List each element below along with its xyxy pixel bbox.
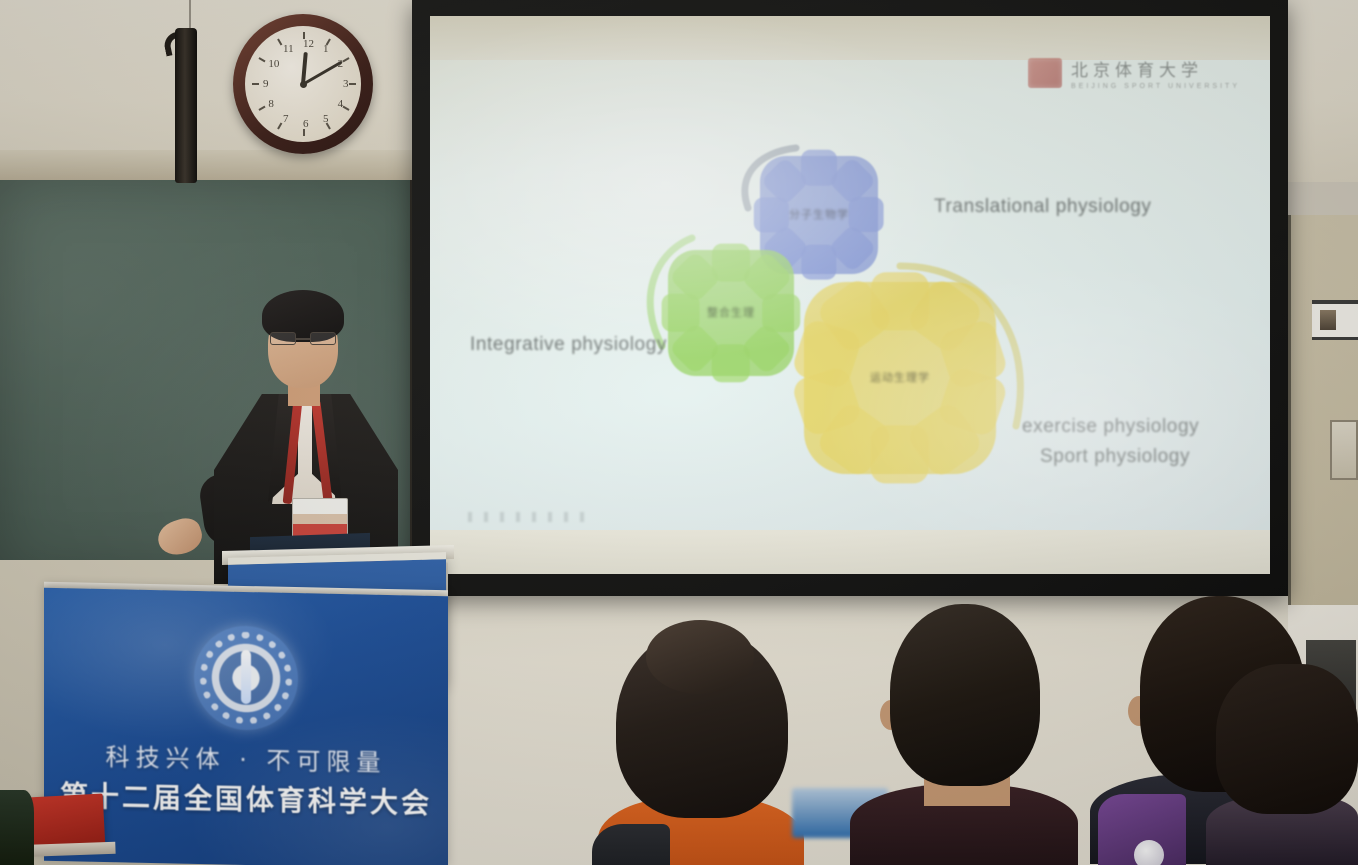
clock-tick <box>342 106 349 111</box>
clock-tick <box>277 38 282 45</box>
clock-numeral: 5 <box>323 113 329 125</box>
conference-banner: 科技兴体 · 不可限量 第十二届全国体育科学大会 <box>44 588 448 865</box>
clock-numeral: 9 <box>263 78 269 90</box>
notice-photo-icon <box>1320 310 1336 330</box>
clock-tick <box>258 106 265 111</box>
clock-tick <box>349 83 356 85</box>
audience-4-hair <box>1216 664 1358 814</box>
conference-photo: 121234567891011 北京体育大学 BEIJING SPORT UNI… <box>0 0 1358 865</box>
label-translational-physiology: Translational physiology <box>934 196 1152 218</box>
clock-numeral: 1 <box>323 43 329 55</box>
audience-1-hair-bun <box>646 620 754 694</box>
audience-member-1 <box>598 628 804 865</box>
label-integrative-physiology: Integrative physiology <box>470 334 667 356</box>
slide-footer-marks <box>468 512 588 522</box>
emblem-ring <box>200 631 292 725</box>
clock-numeral: 8 <box>268 98 274 110</box>
gear-yellow: 运动生理学 <box>804 282 996 474</box>
wall-shadow-band <box>0 150 430 182</box>
audience-3-badge-pin <box>1134 840 1164 865</box>
clock-numeral: 11 <box>283 43 294 55</box>
clock-numeral: 4 <box>338 98 344 110</box>
projection-screen-frame: 北京体育大学 BEIJING SPORT UNIVERSITY 分子生物学 整合… <box>412 0 1288 596</box>
wall-mounted-box <box>1330 420 1358 480</box>
conference-emblem-icon <box>194 625 298 731</box>
glasses-icon <box>270 332 336 345</box>
gear-green-label: 整合生理 <box>668 250 794 376</box>
clock-numeral: 10 <box>268 58 279 70</box>
clock-numeral: 6 <box>303 118 309 130</box>
clock-tick <box>342 57 349 62</box>
clock-face: 121234567891011 <box>245 26 361 142</box>
label-sport-physiology: Sport physiology <box>1040 446 1190 468</box>
clock-center-pin <box>300 81 307 88</box>
right-wall-panel <box>1288 215 1358 605</box>
label-exercise-physiology: exercise physiology <box>1022 416 1199 438</box>
clock-numeral: 7 <box>283 113 289 125</box>
banner-title: 第十二届全国体育科学大会 <box>44 774 448 822</box>
banner-slogan: 科技兴体 · 不可限量 <box>44 736 448 779</box>
clock-numeral: 3 <box>343 78 349 90</box>
clock-numeral: 12 <box>303 38 314 50</box>
wall-notice-sign <box>1312 300 1358 340</box>
clock-minute-hand <box>302 61 342 86</box>
projection-screen[interactable]: 北京体育大学 BEIJING SPORT UNIVERSITY 分子生物学 整合… <box>430 16 1270 574</box>
wall-clock: 121234567891011 <box>233 14 373 154</box>
audience-2-hair <box>890 604 1040 786</box>
clock-tick <box>277 122 282 129</box>
clock-tick <box>252 83 259 85</box>
audience-member-2 <box>850 604 1078 865</box>
audience-1-shoulder <box>592 824 670 865</box>
gear-yellow-label: 运动生理学 <box>804 282 996 474</box>
ceiling-microphone <box>175 28 197 183</box>
clock-tick <box>303 129 305 136</box>
slide-bottom-band <box>430 530 1270 574</box>
gear-green: 整合生理 <box>668 250 794 376</box>
clock-tick <box>258 57 265 62</box>
foreground-dark-object <box>0 790 34 865</box>
audience-member-4 <box>1206 664 1358 865</box>
